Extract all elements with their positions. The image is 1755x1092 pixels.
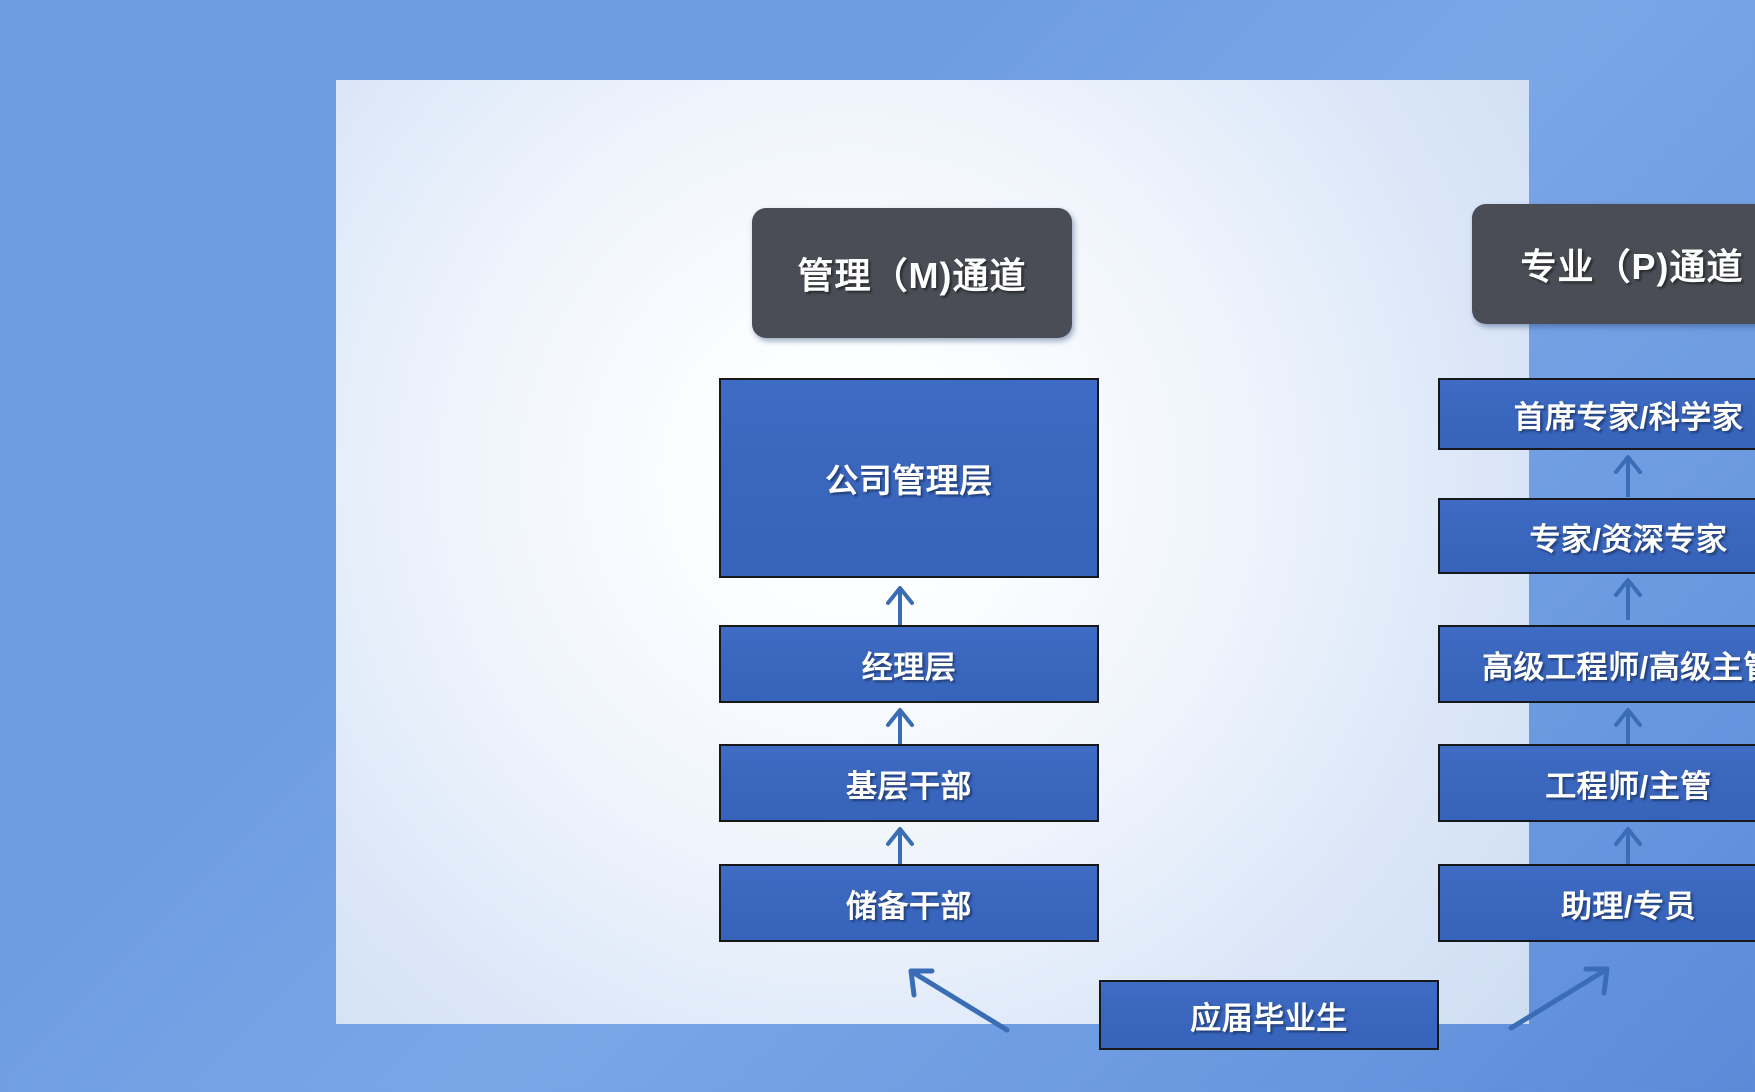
diagram-canvas: 管理（M)通道 公司管理层 经理层 基层干部 [0,0,1755,1092]
professional-level-1-box[interactable]: 首席专家/科学家 [1438,378,1755,450]
professional-level-5-box[interactable]: 助理/专员 [1438,864,1755,942]
professional-level-3-label: 高级工程师/高级主管 [1482,642,1755,687]
arrow-up-icon-management-1 [880,583,920,629]
management-level-4-box[interactable]: 储备干部 [719,864,1099,942]
arrow-up-right-icon-entry [1506,963,1616,1033]
professional-level-3-box[interactable]: 高级工程师/高级主管 [1438,625,1755,703]
channel-header-professional[interactable]: 专业（P)通道 [1472,204,1755,324]
professional-level-1-label: 首席专家/科学家 [1514,392,1744,437]
professional-level-2-box[interactable]: 专家/资深专家 [1438,498,1755,574]
arrow-up-left-icon-entry [902,965,1012,1035]
management-level-1-box[interactable]: 公司管理层 [719,378,1099,578]
diagram-panel: 管理（M)通道 公司管理层 经理层 基层干部 [336,80,1529,1024]
professional-level-2-label: 专家/资深专家 [1529,514,1727,559]
entry-level-box[interactable]: 应届毕业生 [1099,980,1439,1050]
professional-level-5-label: 助理/专员 [1561,881,1696,926]
arrow-up-icon-professional-1 [1608,452,1648,498]
channel-header-professional-label: 专业（P)通道 [1520,238,1743,290]
professional-level-4-box[interactable]: 工程师/主管 [1438,744,1755,822]
management-level-2-box[interactable]: 经理层 [719,625,1099,703]
management-level-2-label: 经理层 [862,642,957,687]
channel-header-management[interactable]: 管理（M)通道 [752,208,1072,338]
channel-header-management-label: 管理（M)通道 [798,247,1027,299]
arrow-up-icon-professional-2 [1608,575,1648,621]
management-level-1-label: 公司管理层 [825,454,993,502]
management-level-3-box[interactable]: 基层干部 [719,744,1099,822]
management-level-4-label: 储备干部 [846,881,972,926]
professional-level-4-label: 工程师/主管 [1545,761,1712,806]
management-level-3-label: 基层干部 [846,761,972,806]
entry-level-label: 应届毕业生 [1190,993,1348,1038]
